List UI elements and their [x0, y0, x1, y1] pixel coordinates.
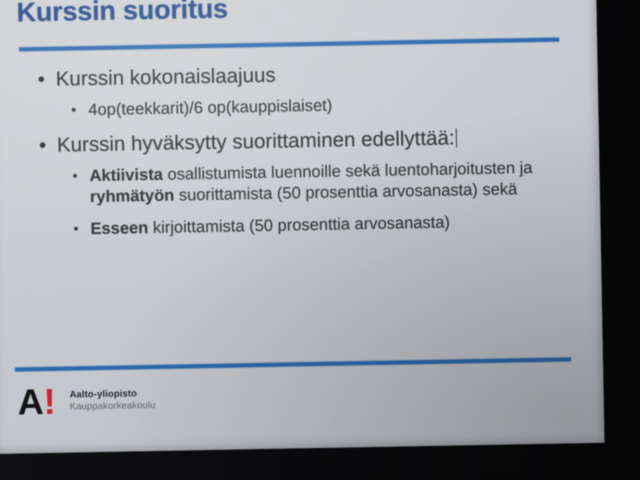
logo-wordmark: Aalto-yliopisto Kauppakorkeakoulu [69, 385, 155, 413]
page-title: Kurssin suoritus [16, 0, 228, 28]
logo-letter-a: A [17, 384, 43, 420]
bullet-marker: • [73, 220, 78, 240]
slide-content: Kurssin suoritus • Kurssin kokonaislaaju… [0, 0, 605, 454]
bullet-marker: • [71, 100, 76, 120]
school-name: Kauppakorkeakoulu [70, 400, 156, 413]
logo-exclamation-icon: ! [43, 384, 56, 420]
title-divider [19, 38, 559, 52]
aalto-logo: A ! Aalto-yliopisto Kauppakorkeakoulu [17, 385, 155, 422]
list-item-emphasis: Aktiivista [89, 166, 163, 185]
bullet-list: • Kurssin kokonaislaajuus • 4op(teekkari… [34, 57, 577, 241]
bullet-marker: • [38, 67, 46, 92]
list-item-label: 4op(teekkarit)/6 op(kauppislaiset) [88, 97, 332, 119]
list-item-emphasis: ryhmätyön [90, 187, 175, 207]
list-item-label: Kurssin kokonaislaajuus [56, 64, 276, 91]
list-item-label-tail: suorittamista (50 prosenttia arvosanasta… [174, 181, 517, 205]
footer-divider [15, 357, 571, 371]
aalto-logo-mark-icon: A ! [17, 387, 62, 422]
text-cursor [455, 129, 457, 148]
bullet-marker: • [39, 133, 47, 158]
bullet-marker: • [72, 166, 77, 186]
list-item-emphasis: Esseen [90, 219, 148, 238]
list-item-label: kirjoittamista (50 prosenttia arvosanast… [148, 214, 450, 238]
photo-frame: Kurssin suoritus • Kurssin kokonaislaaju… [0, 0, 640, 480]
list-item-label: Kurssin hyväksytty suorittaminen edellyt… [57, 127, 455, 157]
slide-wrapper: Kurssin suoritus • Kurssin kokonaislaaju… [0, 0, 605, 454]
